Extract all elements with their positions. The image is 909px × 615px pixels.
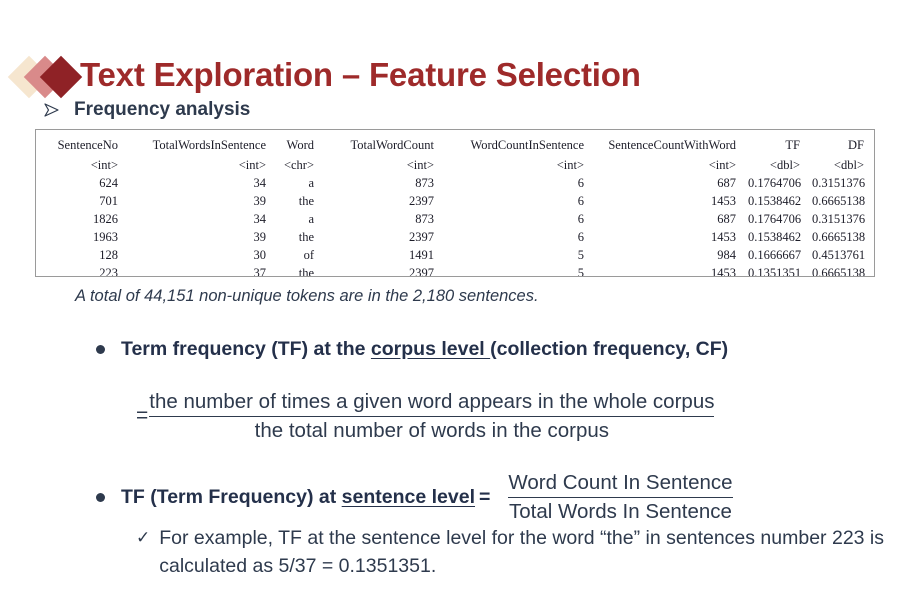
check-icon: ✓ <box>136 524 150 552</box>
cell: 223 <box>36 264 124 277</box>
cell: 0.1764706 <box>742 174 806 192</box>
equals-sign: = <box>479 486 490 509</box>
cell: a <box>272 174 320 192</box>
cell: 30 <box>124 246 272 264</box>
type-cell: <dbl> <box>806 155 870 174</box>
fraction-denominator: the total number of words in the corpus <box>149 417 714 444</box>
cell: 1491 <box>320 246 440 264</box>
cell: 5 <box>440 246 590 264</box>
type-cell: <chr> <box>272 155 320 174</box>
cell: 1.1547459 <box>870 174 875 192</box>
example-note-text: For example, TF at the sentence level fo… <box>159 524 896 580</box>
cell: 2397 <box>320 264 440 277</box>
table-row: 223 37 the 2397 5 1453 0.1351351 0.66651… <box>36 264 875 277</box>
bullet-corpus-level: Term frequency (TF) at the corpus level … <box>96 338 728 361</box>
table-row: 1963 39 the 2397 6 1453 0.1538462 0.6665… <box>36 228 875 246</box>
fraction-corpus: the number of times a given word appears… <box>149 389 714 444</box>
type-cell: <dbl> <box>742 155 806 174</box>
column-header-sentencecountwithword: SentenceCountWithWord <box>590 130 742 155</box>
table-row: 701 39 the 2397 6 1453 0.1538462 0.66651… <box>36 192 875 210</box>
type-cell: <int> <box>590 155 742 174</box>
table-body: <int> <int> <chr> <int> <int> <int> <dbl… <box>36 155 875 277</box>
cell: 0.3151376 <box>806 210 870 228</box>
cell: 39 <box>124 228 272 246</box>
equals-sign: = <box>136 404 148 428</box>
cell: 687 <box>590 174 742 192</box>
table-caption: A total of 44,151 non-unique tokens are … <box>75 287 539 306</box>
page-title: Text Exploration – Feature Selection <box>80 56 641 94</box>
table-row: 128 30 of 1491 5 984 0.1666667 0.4513761… <box>36 246 875 264</box>
bullet-sentence-level: TF (Term Frequency) at sentence level = … <box>96 470 733 525</box>
frequency-table: SentenceNo TotalWordsInSentence Word Tot… <box>36 130 875 277</box>
cell: 1453 <box>590 264 742 277</box>
cell: 2397 <box>320 192 440 210</box>
column-header-df: DF <box>806 130 870 155</box>
cell: 0.6665138 <box>806 228 870 246</box>
table-row: 1826 34 a 873 6 687 0.1764706 0.3151376 … <box>36 210 875 228</box>
cell: the <box>272 264 320 277</box>
cell: 6 <box>440 210 590 228</box>
bullet-corpus-level-text: Term frequency (TF) at the corpus level … <box>121 338 728 361</box>
type-cell: <int> <box>36 155 124 174</box>
arrow-right-icon <box>44 103 60 117</box>
bullet-dot-icon <box>96 493 105 502</box>
cell: a <box>272 210 320 228</box>
formula-corpus-tf: = the number of times a given word appea… <box>136 389 714 444</box>
fraction-sentence: Word Count In Sentence Total Words In Se… <box>508 470 732 525</box>
cell: 1453 <box>590 192 742 210</box>
cell: 37 <box>124 264 272 277</box>
section-heading-frequency-analysis: Frequency analysis <box>44 99 250 121</box>
column-header-totalwordcount: TotalWordCount <box>320 130 440 155</box>
type-cell: <dbl> <box>870 155 875 174</box>
cell: 0.1351351 <box>742 264 806 277</box>
bullet-text-before: Term frequency (TF) at the <box>121 338 371 360</box>
column-header-idf: IDF <box>870 130 875 155</box>
cell: 34 <box>124 210 272 228</box>
bullet-underlined-corpus-level: corpus level <box>371 338 490 360</box>
column-header-word: Word <box>272 130 320 155</box>
cell: 0.7954543 <box>870 246 875 264</box>
cell: 0.3151376 <box>806 174 870 192</box>
column-header-tf: TF <box>742 130 806 155</box>
cell: 873 <box>320 174 440 192</box>
bullet-sentence-level-text: TF (Term Frequency) at sentence level <box>121 486 475 509</box>
cell: 0.1538462 <box>742 192 806 210</box>
bullet-underlined-sentence-level: sentence level <box>342 486 475 508</box>
cell: 0.6665138 <box>806 192 870 210</box>
cell: 687 <box>590 210 742 228</box>
cell: 984 <box>590 246 742 264</box>
cell: 0.4056945 <box>870 192 875 210</box>
cell: 1.1547459 <box>870 210 875 228</box>
cell: 1963 <box>36 228 124 246</box>
cell: 0.6665138 <box>806 264 870 277</box>
fraction-denominator: Total Words In Sentence <box>508 498 732 525</box>
cell: 701 <box>36 192 124 210</box>
column-header-wordcountinsentence: WordCountInSentence <box>440 130 590 155</box>
type-cell: <int> <box>440 155 590 174</box>
cell: 128 <box>36 246 124 264</box>
cell: 0.1764706 <box>742 210 806 228</box>
cell: 2397 <box>320 228 440 246</box>
cell: the <box>272 228 320 246</box>
fraction-numerator: Word Count In Sentence <box>508 470 732 498</box>
example-note: ✓ For example, TF at the sentence level … <box>136 524 896 580</box>
cell: 6 <box>440 192 590 210</box>
cell: of <box>272 246 320 264</box>
bullet-text-before: TF (Term Frequency) at <box>121 486 342 508</box>
cell: 0.1666667 <box>742 246 806 264</box>
cell: 39 <box>124 192 272 210</box>
column-header-sentenceno: SentenceNo <box>36 130 124 155</box>
cell: 1453 <box>590 228 742 246</box>
cell: 6 <box>440 228 590 246</box>
table-header-row: SentenceNo TotalWordsInSentence Word Tot… <box>36 130 875 155</box>
cell: 1826 <box>36 210 124 228</box>
frequency-table-container: SentenceNo TotalWordsInSentence Word Tot… <box>35 129 875 277</box>
bullet-dot-icon <box>96 345 105 354</box>
cell: 624 <box>36 174 124 192</box>
table-row: 624 34 a 873 6 687 0.1764706 0.3151376 1… <box>36 174 875 192</box>
cell: 873 <box>320 210 440 228</box>
slide-header: Text Exploration – Feature Selection <box>0 26 909 88</box>
fraction-numerator: the number of times a given word appears… <box>149 389 714 417</box>
section-heading-label: Frequency analysis <box>74 99 250 121</box>
bullet-text-after: (collection frequency, CF) <box>490 338 728 360</box>
cell: 6 <box>440 174 590 192</box>
cell: 0.4056945 <box>870 228 875 246</box>
table-header: SentenceNo TotalWordsInSentence Word Tot… <box>36 130 875 155</box>
type-cell: <int> <box>320 155 440 174</box>
type-cell: <int> <box>124 155 272 174</box>
cell: the <box>272 192 320 210</box>
cell: 0.1538462 <box>742 228 806 246</box>
cell: 0.4513761 <box>806 246 870 264</box>
column-header-totalwordsinsentence: TotalWordsInSentence <box>124 130 272 155</box>
cell: 5 <box>440 264 590 277</box>
cell: 0.4056945 <box>870 264 875 277</box>
table-type-row: <int> <int> <chr> <int> <int> <int> <dbl… <box>36 155 875 174</box>
cell: 34 <box>124 174 272 192</box>
